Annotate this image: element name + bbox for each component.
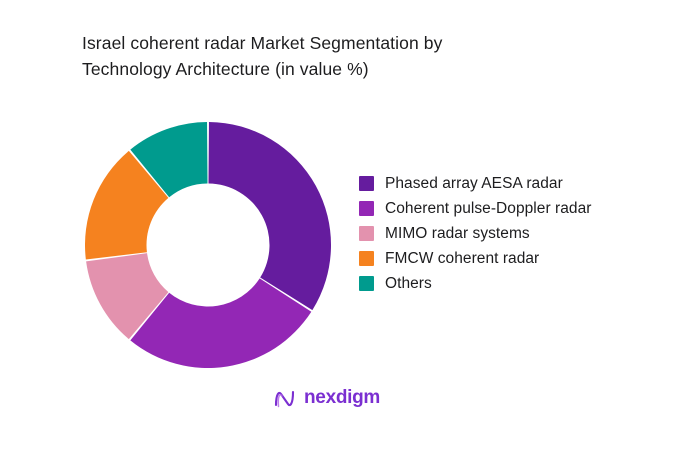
legend-item-label: MIMO radar systems xyxy=(385,222,530,245)
donut-chart-svg xyxy=(85,122,331,368)
legend-item-others[interactable]: Others xyxy=(359,272,659,295)
chart-card: Israel coherent radar Market Segmentatio… xyxy=(0,0,693,455)
nexdigm-mark-icon xyxy=(272,386,296,410)
legend-swatch-icon xyxy=(359,276,374,291)
brand-name: nexdigm xyxy=(304,387,380,409)
legend-item-phased-array-aesa-radar[interactable]: Phased array AESA radar xyxy=(359,172,659,195)
legend-swatch-icon xyxy=(359,201,374,216)
legend-item-fmcw-coherent-radar[interactable]: FMCW coherent radar xyxy=(359,247,659,270)
legend-swatch-icon xyxy=(359,251,374,266)
chart-legend: Phased array AESA radar Coherent pulse-D… xyxy=(359,172,659,297)
brand-logo: nexdigm xyxy=(272,386,380,410)
legend-item-label: Coherent pulse-Doppler radar xyxy=(385,197,591,220)
legend-item-label: FMCW coherent radar xyxy=(385,247,539,270)
legend-item-mimo-radar-systems[interactable]: MIMO radar systems xyxy=(359,222,659,245)
donut-slice[interactable] xyxy=(208,122,331,310)
chart-title: Israel coherent radar Market Segmentatio… xyxy=(82,30,552,82)
legend-item-coherent-pulse-doppler-radar[interactable]: Coherent pulse-Doppler radar xyxy=(359,197,659,220)
donut-chart xyxy=(85,122,331,368)
donut-slice-group xyxy=(85,122,331,368)
legend-item-label: Others xyxy=(385,272,432,295)
legend-swatch-icon xyxy=(359,176,374,191)
legend-item-label: Phased array AESA radar xyxy=(385,172,563,195)
legend-swatch-icon xyxy=(359,226,374,241)
